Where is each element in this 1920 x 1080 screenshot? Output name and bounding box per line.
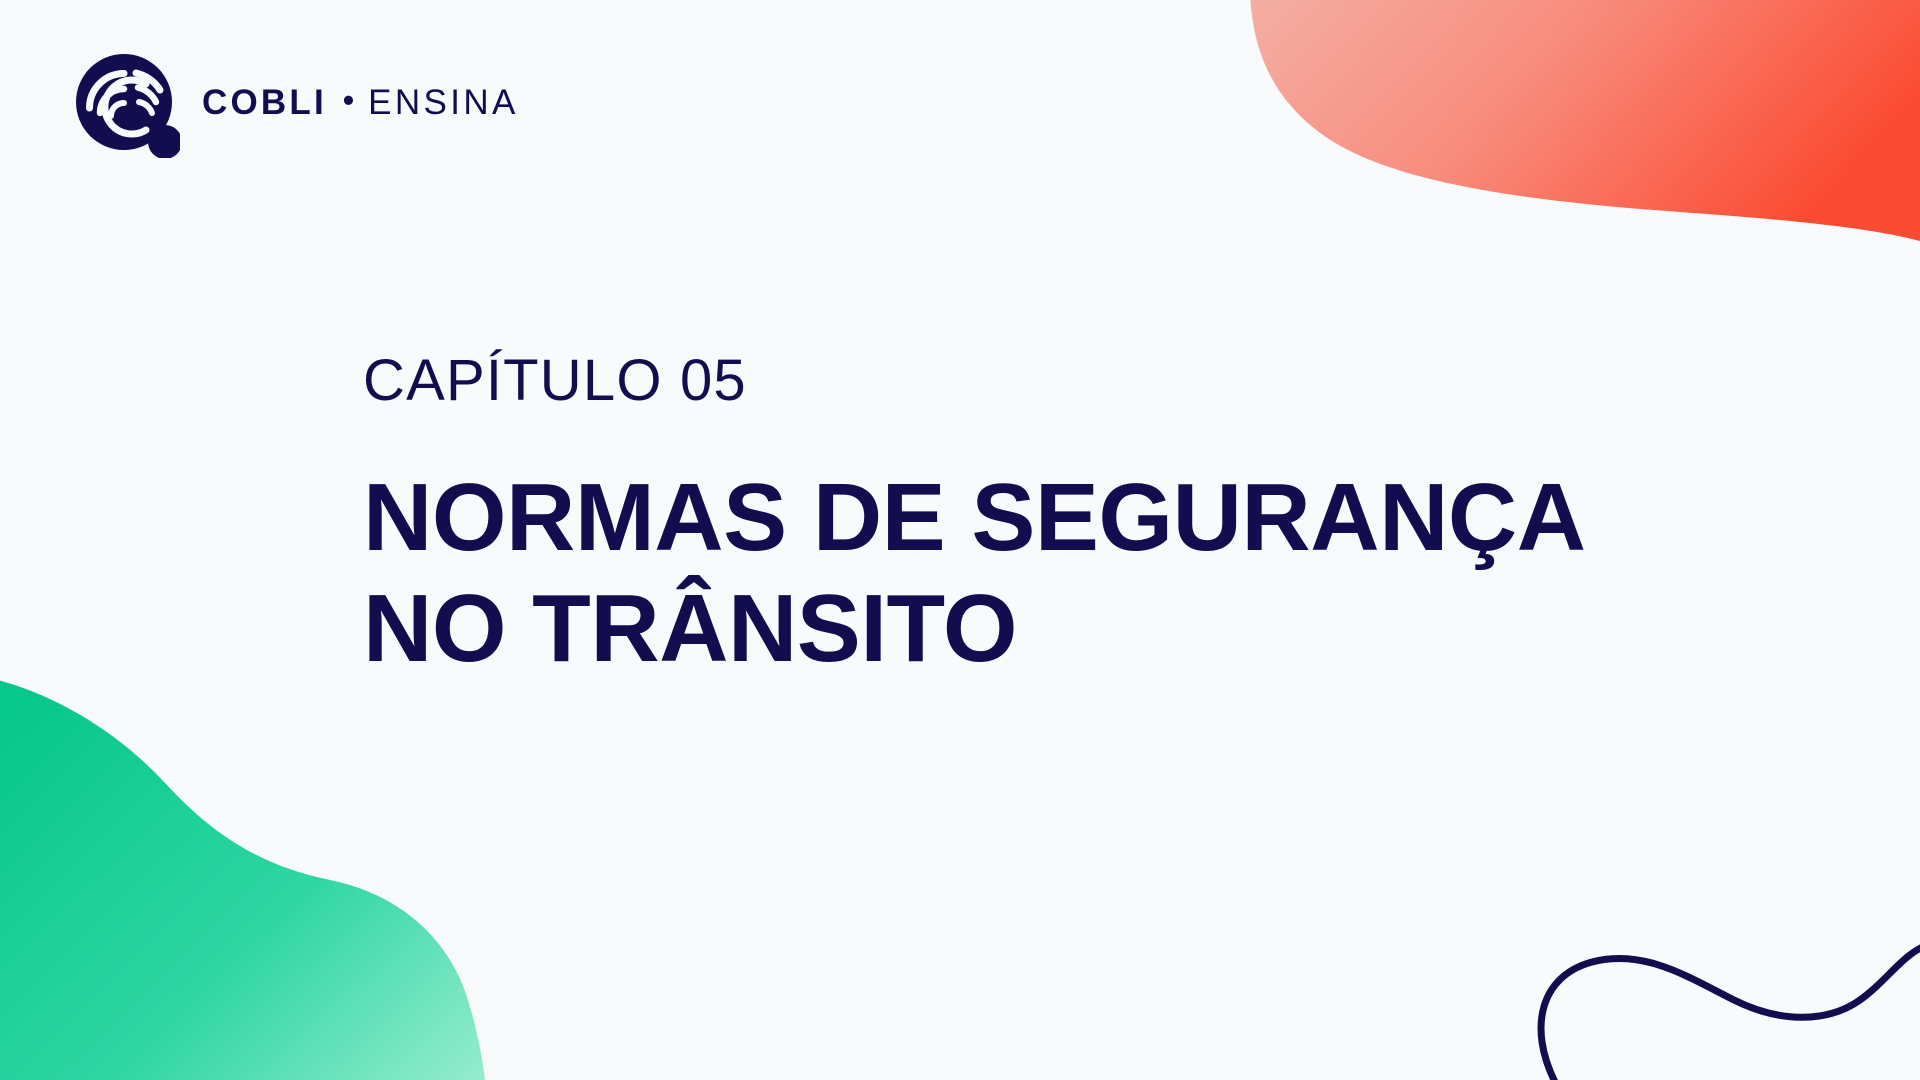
coral-wave-shape <box>1250 0 1920 244</box>
page-title-line-2: NO TRÂNSITO <box>363 573 1843 684</box>
brand-lockup: COBLI • ENSINA <box>68 46 519 158</box>
chapter-label: CAPÍTULO 05 <box>363 352 1843 410</box>
page-title: NORMAS DE SEGURANÇA NO TRÂNSITO <box>363 462 1843 685</box>
green-wave-shape <box>0 678 486 1080</box>
brand-wordmark: COBLI • ENSINA <box>202 85 519 120</box>
cobli-spiral-logo-icon <box>68 46 180 158</box>
brand-name-secondary: ENSINA <box>368 85 519 120</box>
blue-wave-shape <box>0 862 176 1080</box>
title-block: CAPÍTULO 05 NORMAS DE SEGURANÇA NO TRÂNS… <box>363 352 1843 685</box>
brand-separator-dot: • <box>343 84 354 116</box>
navy-squiggle-shape <box>1541 944 1920 1080</box>
slide-canvas: COBLI • ENSINA CAPÍTULO 05 NORMAS DE SEG… <box>0 0 1920 1080</box>
brand-name-primary: COBLI <box>202 85 327 120</box>
page-title-line-1: NORMAS DE SEGURANÇA <box>363 462 1843 573</box>
